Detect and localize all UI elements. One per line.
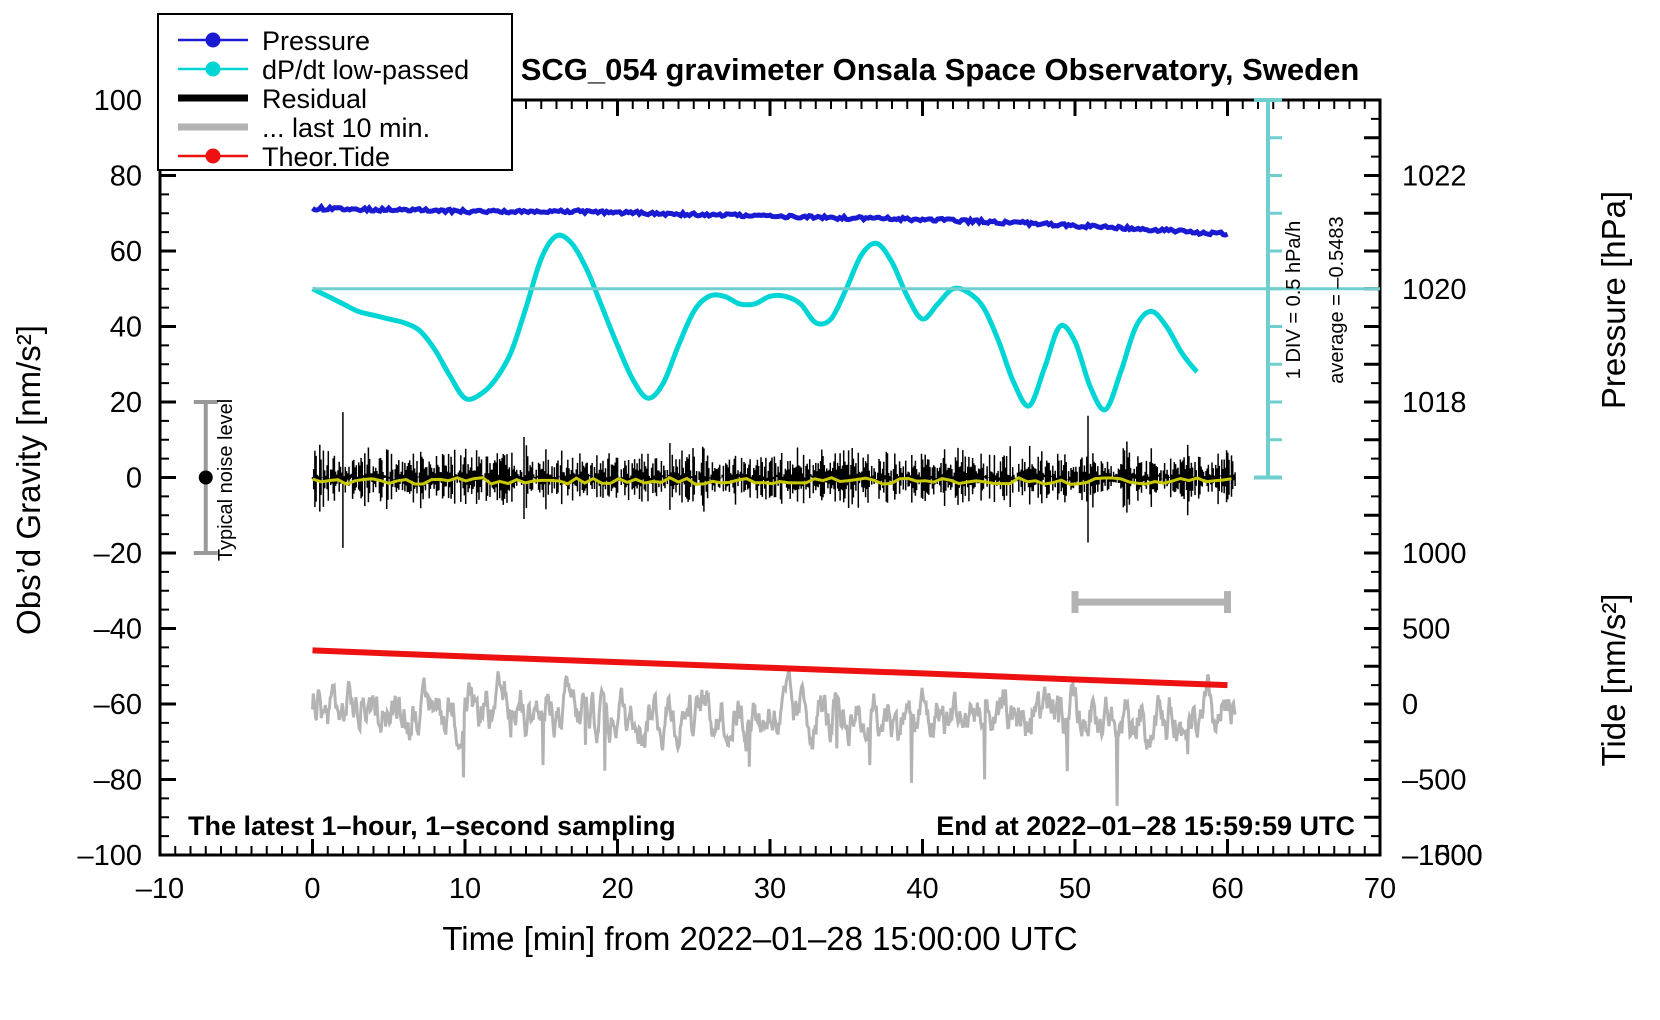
- pressure-axis-title: Pressure [hPa]: [1595, 191, 1632, 409]
- tide-tick-label: 500: [1402, 614, 1450, 646]
- gravimeter-chart: –10010203040506070 100806040200–20–40–60…: [0, 0, 1660, 1020]
- tide-axis-title: Tide [nm/s²]: [1595, 594, 1632, 767]
- pressure-tick-label: 1020: [1402, 274, 1467, 306]
- y-axis-title: Obs’d Gravity [nm/s²]: [10, 325, 47, 635]
- y-tick-label: 80: [110, 161, 142, 193]
- y-tick-label: –60: [94, 689, 142, 721]
- legend-marker: [206, 62, 221, 77]
- legend-marker: [206, 33, 221, 48]
- y-tick-label: –40: [94, 614, 142, 646]
- y-tick-label: 0: [126, 463, 142, 495]
- x-axis-tick-labels: –10010203040506070: [136, 873, 1396, 905]
- chart-title: SCG_054 gravimeter Onsala Space Observat…: [521, 52, 1360, 87]
- y-tick-label: 60: [110, 236, 142, 268]
- x-tick-label: 10: [449, 873, 481, 905]
- y-tick-label: –20: [94, 538, 142, 570]
- x-tick-label: 40: [906, 873, 938, 905]
- x-axis-title: Time [min] from 2022–01–28 15:00:00 UTC: [442, 920, 1077, 957]
- tide-tick-label: 0: [1402, 689, 1418, 721]
- pressure-tick-label: 1018: [1402, 387, 1467, 419]
- y-tick-label: 100: [94, 85, 142, 117]
- legend-label: Theor.Tide: [262, 142, 390, 172]
- legend-label: dP/dt low-passed: [262, 55, 469, 85]
- y-tick-label: –100: [77, 840, 142, 872]
- x-tick-label: 60: [1211, 873, 1243, 905]
- legend-label: ... last 10 min.: [262, 113, 430, 143]
- x-tick-label: 30: [754, 873, 786, 905]
- tide-axis-tick-labels: 10005000–500–1000–1500: [1402, 538, 1483, 872]
- legend-label: Residual: [262, 84, 367, 114]
- y-axis-tick-labels: 100806040200–20–40–60–80–100: [77, 85, 142, 872]
- pressure-axis-tick-labels: 102210201018: [1402, 161, 1467, 420]
- pressure-tick-label: 1022: [1402, 161, 1467, 193]
- right-axis-ticks: [1364, 100, 1380, 855]
- x-tick-label: 50: [1059, 873, 1091, 905]
- y-tick-label: 40: [110, 312, 142, 344]
- y-tick-label: –80: [94, 765, 142, 797]
- end-time-note: End at 2022–01–28 15:59:59 UTC: [936, 811, 1355, 841]
- sampling-note: The latest 1–hour, 1–second sampling: [188, 811, 676, 841]
- x-tick-label: 20: [601, 873, 633, 905]
- tide-tick-label: 1000: [1402, 538, 1467, 570]
- tide-tick-label: –1500: [1402, 840, 1483, 872]
- x-tick-label: 70: [1364, 873, 1396, 905]
- tide-tick-label: –500: [1402, 765, 1467, 797]
- dpdt-average-label: average = –0.5483: [1326, 216, 1348, 383]
- x-tick-label: 0: [304, 873, 320, 905]
- pressure-div-scale-label: 1 DIV = 0.5 hPa/h: [1283, 221, 1305, 379]
- typical-noise-level-label: Typical noise level: [215, 399, 237, 561]
- legend: PressuredP/dt low-passedResidual... last…: [158, 14, 512, 172]
- y-tick-label: 20: [110, 387, 142, 419]
- legend-marker: [206, 149, 221, 164]
- legend-label: Pressure: [262, 26, 370, 56]
- x-tick-label: –10: [136, 873, 184, 905]
- chart-page: –10010203040506070 100806040200–20–40–60…: [0, 0, 1660, 1020]
